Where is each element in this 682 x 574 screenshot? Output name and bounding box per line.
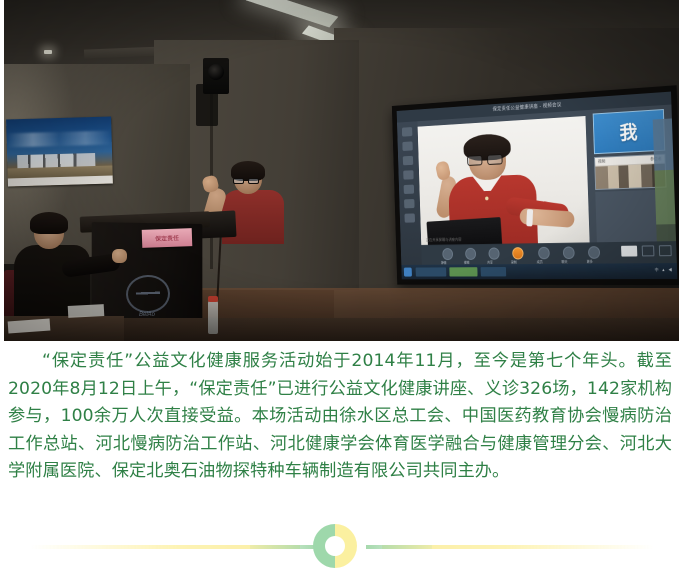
members-icon[interactable] bbox=[538, 247, 550, 259]
main-video-caption: 正在共享屏幕与讲座内容 bbox=[426, 237, 462, 243]
meeting-app-title: 保定责任公益健康讲座 - 视频会议 bbox=[493, 101, 562, 112]
taskbar-item[interactable] bbox=[481, 267, 507, 276]
taskbar-item[interactable] bbox=[449, 267, 477, 276]
secondary-button[interactable] bbox=[676, 245, 677, 256]
projection-screen: 保定责任公益健康讲座 - 视频会议 bbox=[397, 92, 678, 280]
secondary-button[interactable] bbox=[659, 245, 672, 256]
ceiling-panel-light bbox=[246, 0, 339, 27]
water-bottle bbox=[208, 300, 218, 334]
article-page: 保定责任公益健康讲座 - 视频会议 bbox=[0, 0, 682, 574]
wall-speaker bbox=[203, 58, 229, 94]
podium-sign: 保定责任 bbox=[142, 228, 193, 248]
divider-line-right-green bbox=[366, 545, 432, 549]
poster-sky bbox=[6, 131, 111, 148]
article-paragraph: “保定责任”公益文化健康服务活动始于2014年11月，至今是第七个年头。截至20… bbox=[8, 348, 672, 486]
meeting-toolbar: 静音 视频 共享 录制 成员 聊天 更多 bbox=[421, 241, 677, 265]
record-icon[interactable] bbox=[512, 247, 524, 259]
paper-sheet bbox=[68, 304, 105, 318]
divider-line-left-green bbox=[250, 545, 316, 549]
projection-screen-frame: 保定责任公益健康讲座 - 视频会议 bbox=[392, 85, 679, 285]
photo-scene: 保定责任公益健康讲座 - 视频会议 bbox=[4, 0, 679, 341]
desktop-icon[interactable] bbox=[403, 170, 414, 179]
operator-hand bbox=[112, 249, 127, 263]
taskbar-item[interactable] bbox=[416, 267, 447, 276]
desktop-icon[interactable] bbox=[404, 199, 415, 208]
chat-icon[interactable] bbox=[563, 246, 575, 259]
article-body: “保定责任”公益文化健康服务活动始于2014年11月，至今是第七个年头。截至20… bbox=[0, 348, 682, 486]
ceiling-downlight-icon bbox=[44, 50, 52, 54]
desktop-icon[interactable] bbox=[402, 141, 412, 151]
presenter-glasses-icon bbox=[467, 154, 506, 166]
main-video-tile[interactable]: 正在共享屏幕与讲座内容 bbox=[418, 116, 590, 246]
desktop-icon[interactable] bbox=[404, 185, 415, 194]
divider-donut-icon bbox=[313, 524, 357, 568]
podium-sign-text: 保定责任 bbox=[155, 233, 179, 243]
event-photo: 保定责任公益健康讲座 - 视频会议 bbox=[4, 0, 679, 341]
layout-view-button[interactable] bbox=[621, 246, 637, 257]
speaker-glasses-icon bbox=[233, 178, 261, 184]
os-taskbar: 中 ▲ ◀ bbox=[401, 263, 677, 279]
section-divider bbox=[0, 524, 682, 568]
desktop-icon[interactable] bbox=[403, 156, 413, 165]
more-icon[interactable] bbox=[588, 246, 600, 259]
wall-baseboard bbox=[184, 288, 679, 320]
thumbnail-label-left: 视频 bbox=[598, 159, 606, 165]
desktop-icon[interactable] bbox=[404, 213, 415, 222]
bottle-cap bbox=[208, 296, 218, 302]
secondary-button[interactable] bbox=[642, 245, 655, 256]
wall-poster bbox=[6, 117, 113, 187]
presenter-watch bbox=[526, 209, 533, 226]
camera-icon[interactable] bbox=[465, 248, 476, 260]
start-button-icon[interactable] bbox=[404, 268, 412, 277]
presenter-button bbox=[485, 197, 488, 201]
share-screen-icon[interactable] bbox=[488, 247, 499, 259]
self-view-label: 我 bbox=[619, 118, 638, 145]
system-tray[interactable]: 中 ▲ ◀ bbox=[655, 267, 674, 273]
microphone-icon[interactable] bbox=[442, 248, 453, 260]
operator-hair bbox=[30, 212, 68, 234]
meeting-app-body: 正在共享屏幕与讲座内容 我 视频 参会者 bbox=[397, 105, 677, 280]
desktop-icon[interactable] bbox=[402, 127, 412, 137]
